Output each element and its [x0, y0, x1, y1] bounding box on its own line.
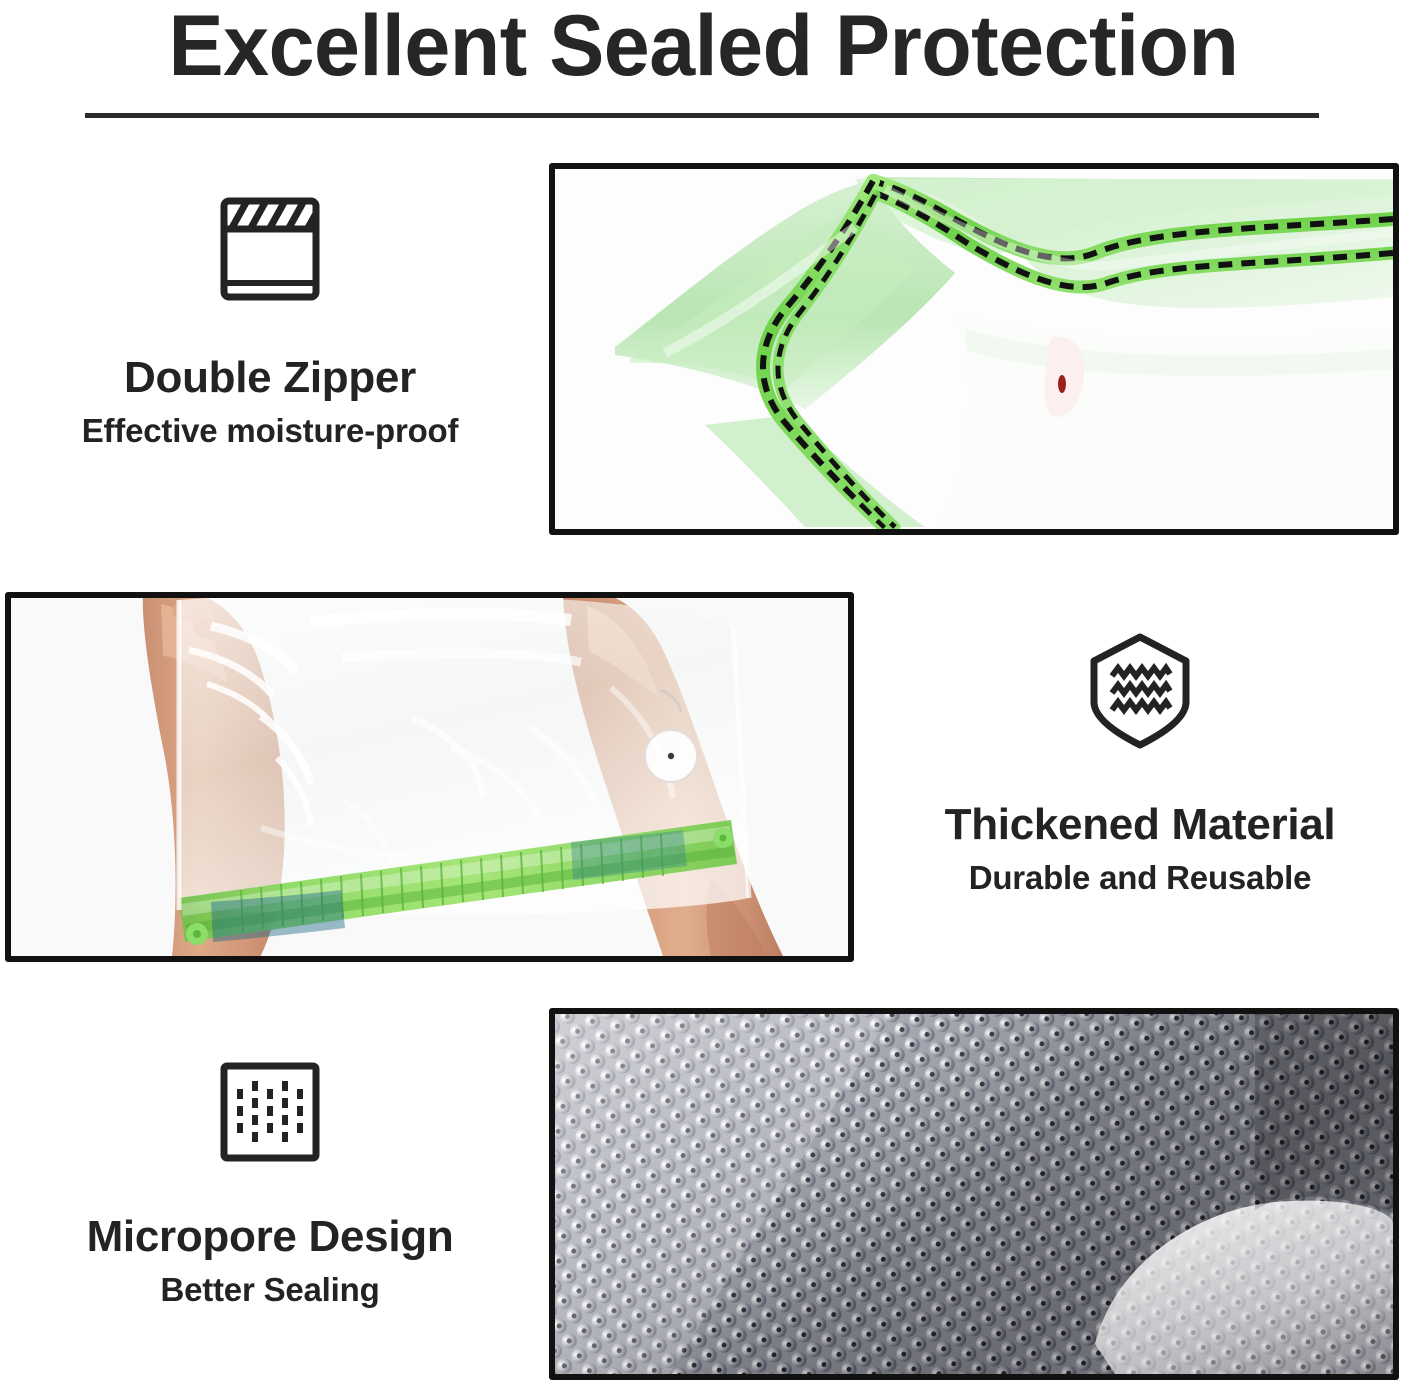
page-title: Excellent Sealed Protection	[28, 0, 1379, 94]
feature-double-zipper: Double Zipper Effective moisture-proof	[10, 195, 530, 452]
feature-subtitle: Durable and Reusable	[880, 857, 1400, 899]
header-divider	[85, 113, 1319, 118]
feature-title: Double Zipper	[10, 350, 530, 406]
feature-micropore-design: Micropore Design Better Sealing	[10, 1060, 530, 1311]
micropore-grid-icon	[10, 1060, 530, 1169]
feature-subtitle: Effective moisture-proof	[10, 410, 530, 452]
feature-thickened-material: Thickened Material Durable and Reusable	[880, 630, 1400, 899]
shield-waves-icon	[880, 630, 1400, 757]
feature-title: Thickened Material	[880, 797, 1400, 853]
hands-stretching-bag-photo	[5, 592, 854, 962]
feature-title: Micropore Design	[10, 1209, 530, 1265]
double-zipper-icon	[10, 195, 530, 310]
micropore-texture-photo	[549, 1008, 1399, 1380]
feature-subtitle: Better Sealing	[10, 1269, 530, 1311]
double-zipper-closeup-photo	[549, 163, 1399, 535]
